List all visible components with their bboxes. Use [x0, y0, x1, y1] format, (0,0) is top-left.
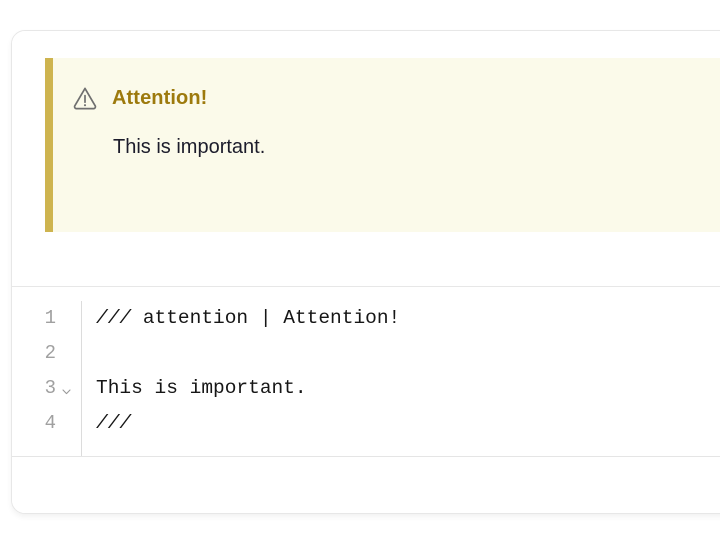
line-number: 1 [45, 309, 56, 328]
gutter-row: 1 [12, 301, 72, 336]
line-number: 4 [45, 414, 56, 433]
attention-callout: Attention! This is important. [45, 58, 720, 232]
card-footer [12, 458, 720, 513]
screenshot-stage: Attention! This is important. 1 2 3 [0, 0, 720, 544]
line-number-gutter: 1 2 3 4 [12, 301, 82, 456]
line-number: 3 [45, 379, 56, 398]
code-token: /// [96, 309, 143, 329]
code-line[interactable]: This is important. [96, 371, 720, 406]
callout-header: Attention! [72, 84, 720, 112]
source-code-pane: 1 2 3 4 [12, 287, 720, 457]
callout-text: This is important. [113, 136, 720, 159]
code-token: /// [96, 414, 131, 434]
gutter-row: 2 [12, 336, 72, 371]
gutter-row: 3 [12, 371, 72, 406]
code-token: attention | Attention! [143, 309, 400, 329]
line-number: 2 [45, 344, 56, 363]
gutter-row: 4 [12, 406, 72, 441]
rendered-preview-pane: Attention! This is important. [12, 31, 720, 287]
callout-body: Attention! This is important. [53, 58, 720, 232]
code-token: This is important. [96, 379, 307, 399]
callout-accent-bar [45, 58, 53, 232]
callout-title: Attention! [112, 87, 207, 110]
warning-triangle-icon [72, 85, 98, 111]
code-line[interactable]: /// [96, 406, 720, 441]
markdown-callout-example-card: Attention! This is important. 1 2 3 [11, 30, 720, 514]
chevron-down-icon[interactable] [61, 383, 72, 394]
code-line[interactable] [96, 336, 720, 371]
code-line[interactable]: /// attention | Attention! [96, 301, 720, 336]
code-lines[interactable]: /// attention | Attention! This is impor… [82, 301, 720, 456]
